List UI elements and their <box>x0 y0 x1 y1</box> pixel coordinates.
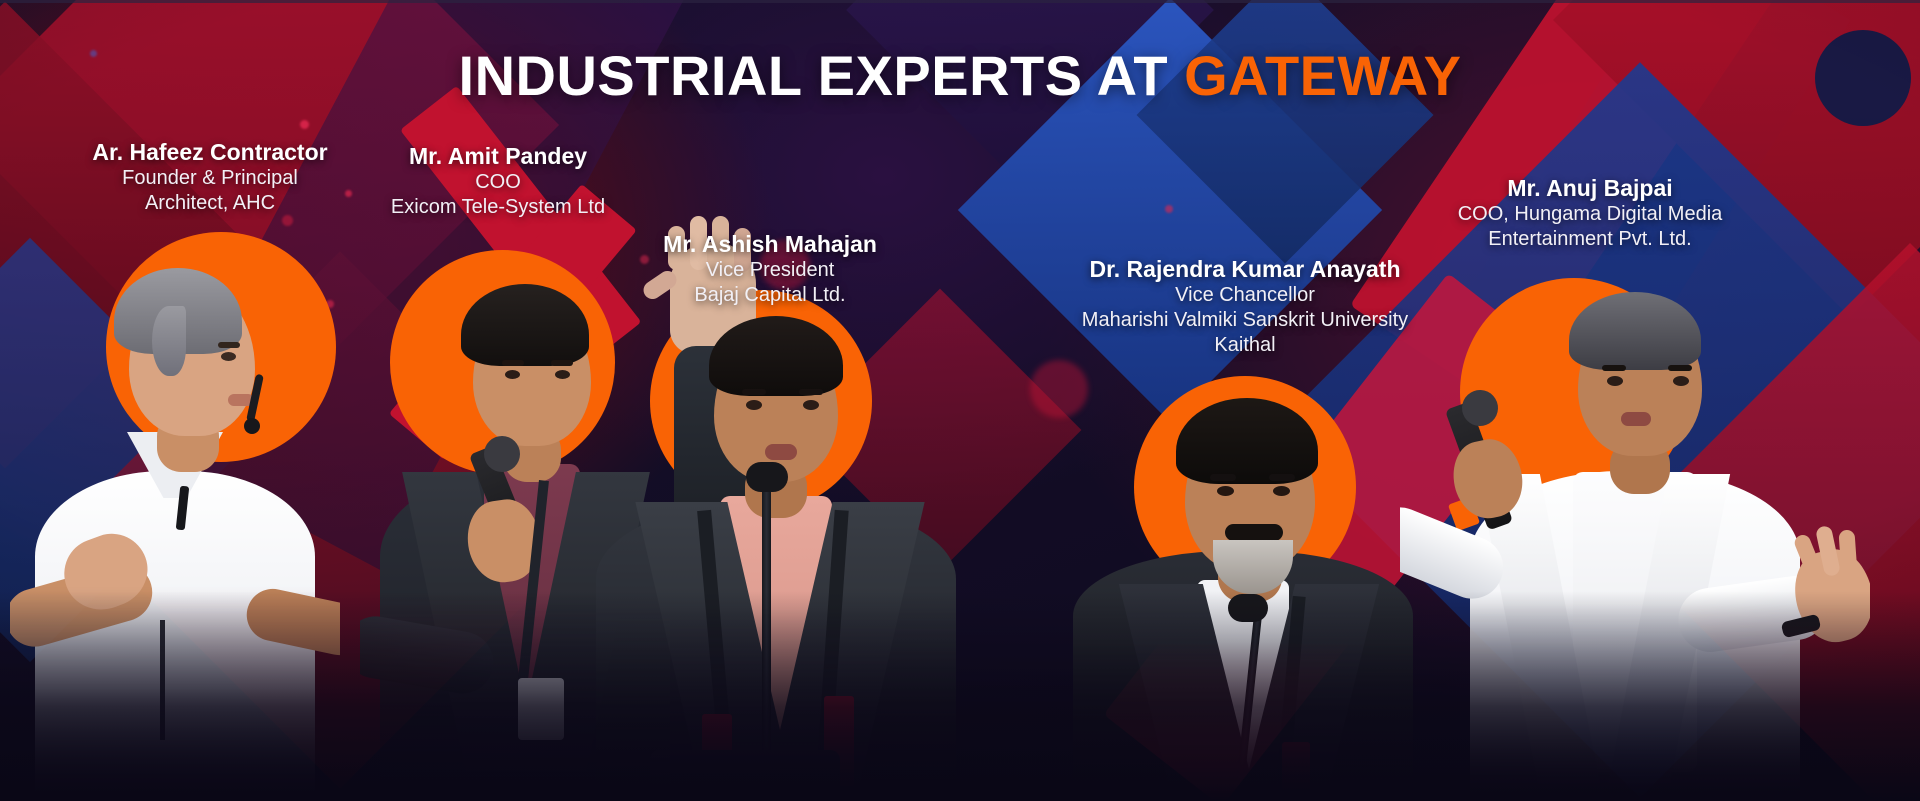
portrait-hair <box>709 316 843 396</box>
speaker-label-3: Mr. Ashish Mahajan Vice President Bajaj … <box>560 230 980 308</box>
portrait-hair <box>1176 398 1318 484</box>
portrait-brow <box>1602 365 1626 371</box>
speaker-role-line: Entertainment Pvt. Ltd. <box>1380 227 1800 252</box>
title-main-text: INDUSTRIAL EXPERTS AT <box>459 44 1185 107</box>
portrait-hair-side <box>152 306 186 376</box>
portrait-brow <box>799 389 823 395</box>
speaker-role-line: Bajaj Capital Ltd. <box>560 283 980 308</box>
speaker-label-2: Mr. Amit Pandey COO Exicom Tele-System L… <box>288 142 708 220</box>
portrait-brow <box>1210 474 1236 481</box>
speaker-role-line: Vice President <box>560 258 980 283</box>
portrait-mouth <box>1621 412 1651 426</box>
portrait-hair <box>1569 292 1701 370</box>
speaker-name: Mr. Anuj Bajpai <box>1380 174 1800 202</box>
speaker-label-5: Mr. Anuj Bajpai COO, Hungama Digital Med… <box>1380 174 1800 252</box>
headset-mic-capsule <box>244 418 260 434</box>
speaker-role-line: COO, Hungama Digital Media <box>1380 202 1800 227</box>
portrait-brow <box>1269 474 1295 481</box>
portrait-eye <box>555 370 570 379</box>
portrait-brow <box>742 389 766 395</box>
title-accent-text: GATEWAY <box>1184 44 1461 107</box>
speaker-role-line: Maharishi Valmiki Sanskrit University <box>1040 308 1450 333</box>
top-edge-line <box>0 0 1920 3</box>
speaker-role-line: COO <box>288 170 708 195</box>
speaker-role-line: Vice Chancellor <box>1040 283 1450 308</box>
portrait-brow <box>218 342 240 348</box>
portrait-brow <box>1668 365 1692 371</box>
portrait-eye <box>803 400 819 410</box>
speaker-label-4: Dr. Rajendra Kumar Anayath Vice Chancell… <box>1040 255 1450 359</box>
podium-microphone-capsule <box>746 462 788 492</box>
portrait-eye <box>1273 486 1290 496</box>
portrait-eye <box>1607 376 1623 386</box>
speaker-name: Dr. Rajendra Kumar Anayath <box>1040 255 1450 283</box>
portrait-eye <box>1673 376 1689 386</box>
portrait-eye <box>746 400 762 410</box>
portrait-brow <box>502 360 524 366</box>
finger <box>1838 529 1857 576</box>
portrait-mouth <box>765 444 797 460</box>
bottom-fade-overlay <box>0 591 1920 801</box>
speaker-name: Mr. Amit Pandey <box>288 142 708 170</box>
speaker-role-line: Kaithal <box>1040 333 1450 358</box>
speaker-role-line: Exicom Tele-System Ltd <box>288 195 708 220</box>
portrait-moustache <box>1225 524 1283 541</box>
portrait-brow <box>551 360 573 366</box>
page-title: INDUSTRIAL EXPERTS AT GATEWAY <box>0 48 1920 104</box>
speaker-name: Mr. Ashish Mahajan <box>560 230 980 258</box>
industrial-experts-banner: INDUSTRIAL EXPERTS AT GATEWAY <box>0 0 1920 801</box>
portrait-eye <box>1217 486 1234 496</box>
